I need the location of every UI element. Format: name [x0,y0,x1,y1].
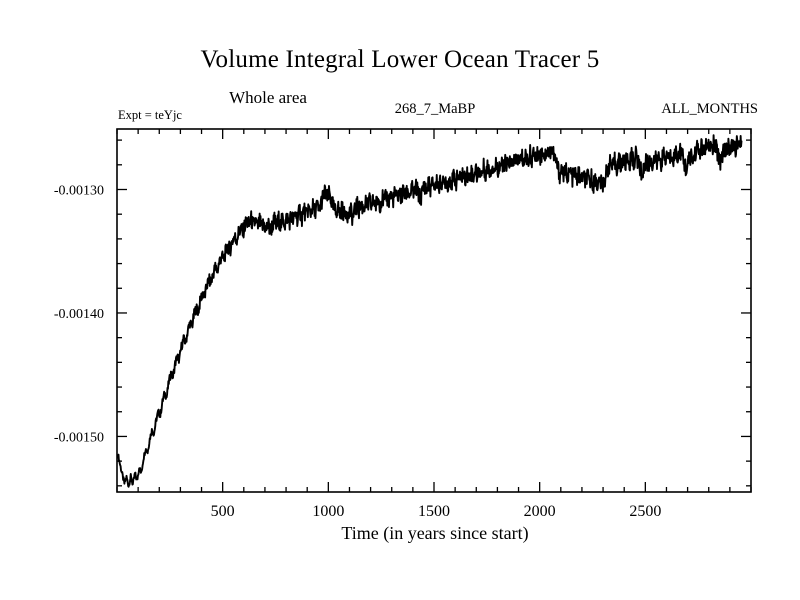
chart-plot-area: 5001000150020002500-0.00130-0.00140-0.00… [0,0,800,600]
x-axis-tick-label: 1500 [418,503,450,520]
chart-page: Volume Integral Lower Ocean Tracer 5 Who… [0,0,800,600]
x-axis-tick-label: 500 [211,503,235,520]
x-axis-tick-label: 1000 [312,503,344,520]
data-series-line [118,135,741,487]
y-axis-tick-label: -0.00140 [54,307,104,322]
x-axis-label: Time (in years since start) [118,523,752,544]
x-axis-tick-label: 2000 [524,503,556,520]
y-axis-tick-label: -0.00130 [54,184,104,199]
y-axis-tick-label: -0.00150 [54,430,104,445]
x-axis-tick-label: 2500 [629,503,661,520]
